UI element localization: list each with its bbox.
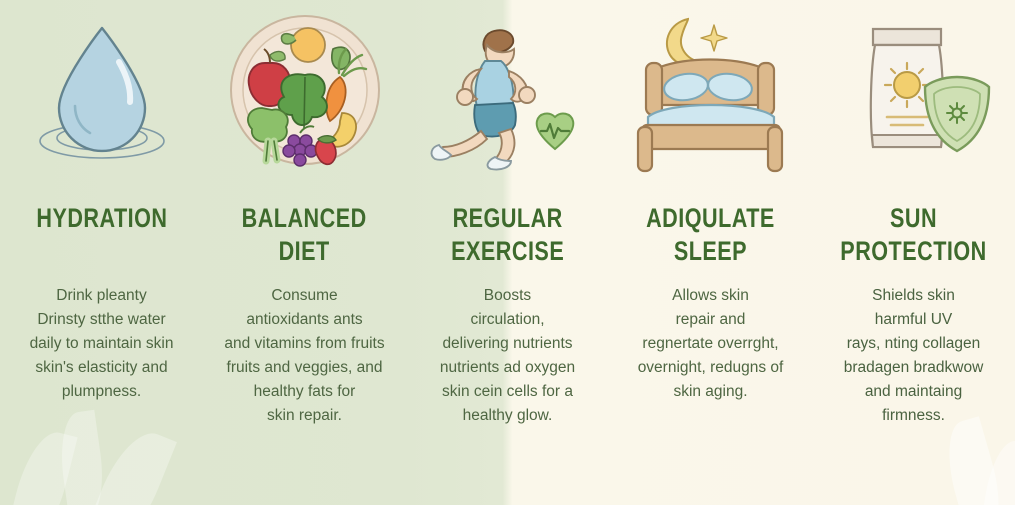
card-body: Shields skin harmful UV rays, nting coll… (844, 284, 984, 428)
tip-card-regular-exercise: REGULAR EXERCISE Boosts circulation, del… (406, 0, 609, 505)
tip-card-adequate-sleep: ADIQULATE SLEEP Allows skin repair and r… (609, 0, 812, 505)
card-title: BALANCED DIET (242, 202, 367, 278)
sunscreen-shield-icon (820, 0, 1007, 180)
bed-moon-icon (617, 0, 804, 180)
tip-card-hydration: HYDRATION Drink pleanty Drinsty stthe wa… (0, 0, 203, 505)
card-body: Allows skin repair and regnertate overrg… (638, 284, 784, 404)
card-body: Boosts circulation, delivering nutrients… (440, 284, 575, 428)
tip-card-sun-protection: SUN PROTECTION Shields skin harmful UV r… (812, 0, 1015, 505)
card-title: ADIQULATE SLEEP (646, 202, 775, 278)
card-title: HYDRATION (36, 202, 167, 278)
card-body: Drink pleanty Drinsty stthe water daily … (30, 284, 174, 404)
card-body: Consume antioxidants ants and vitamins f… (224, 284, 384, 428)
food-plate-icon (211, 0, 398, 180)
skincare-tips-infographic: HYDRATION Drink pleanty Drinsty stthe wa… (0, 0, 1015, 505)
card-title: REGULAR EXERCISE (451, 202, 564, 278)
running-person-icon (414, 0, 601, 180)
water-drop-icon (8, 0, 195, 180)
tip-card-balanced-diet: BALANCED DIET Consume antioxidants ants … (203, 0, 406, 505)
card-title: SUN PROTECTION (840, 202, 986, 278)
tips-columns: HYDRATION Drink pleanty Drinsty stthe wa… (0, 0, 1015, 505)
